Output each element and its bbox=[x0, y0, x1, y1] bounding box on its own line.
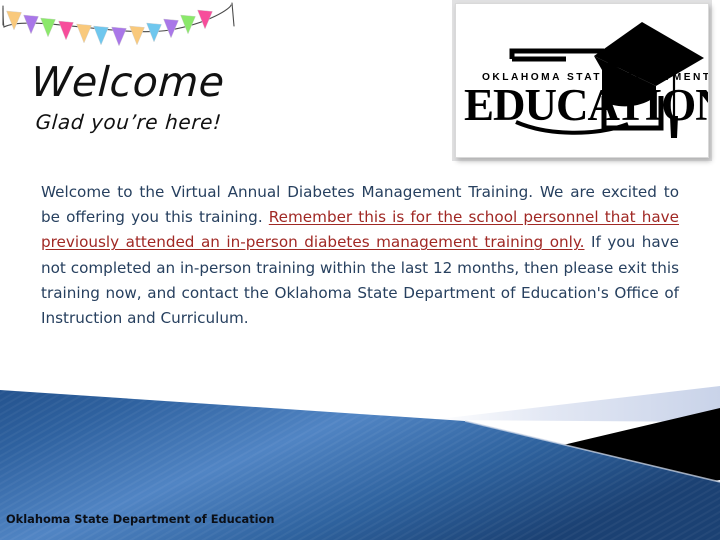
welcome-heading-block: Welcome Glad you’re here! bbox=[30, 62, 223, 132]
bunting-flag bbox=[77, 24, 92, 43]
footer-address: Oklahoma State Department of Education 2… bbox=[6, 481, 275, 540]
banner-wedge-light bbox=[430, 386, 720, 422]
bunting-flag bbox=[198, 10, 213, 29]
osde-logo: OKLAHOMA STATE DEPARTMENT OF EDUCATION bbox=[455, 3, 709, 158]
diploma-frame bbox=[512, 51, 604, 59]
body-paragraph: Welcome to the Virtual Annual Diabetes M… bbox=[41, 180, 679, 331]
logo-artwork: OKLAHOMA STATE DEPARTMENT OF EDUCATION bbox=[456, 4, 708, 157]
bunting-flag bbox=[147, 23, 162, 42]
bunting-flag bbox=[59, 21, 74, 40]
footer-line-1: Oklahoma State Department of Education bbox=[6, 512, 275, 528]
bunting-flag bbox=[130, 26, 145, 45]
bunting-flag bbox=[112, 27, 127, 46]
bunting-flag bbox=[41, 18, 56, 37]
page-title: Welcome bbox=[30, 62, 226, 103]
bunting-flag bbox=[94, 26, 109, 45]
logo-wordmark: EDUCATION bbox=[464, 80, 708, 130]
bunting-flag bbox=[7, 11, 22, 30]
slide-canvas: Welcome Glad you’re here! bbox=[0, 0, 720, 540]
page-subtitle: Glad you’re here! bbox=[35, 112, 225, 132]
party-bunting-decoration bbox=[0, 0, 250, 50]
bunting-flag bbox=[24, 15, 39, 34]
